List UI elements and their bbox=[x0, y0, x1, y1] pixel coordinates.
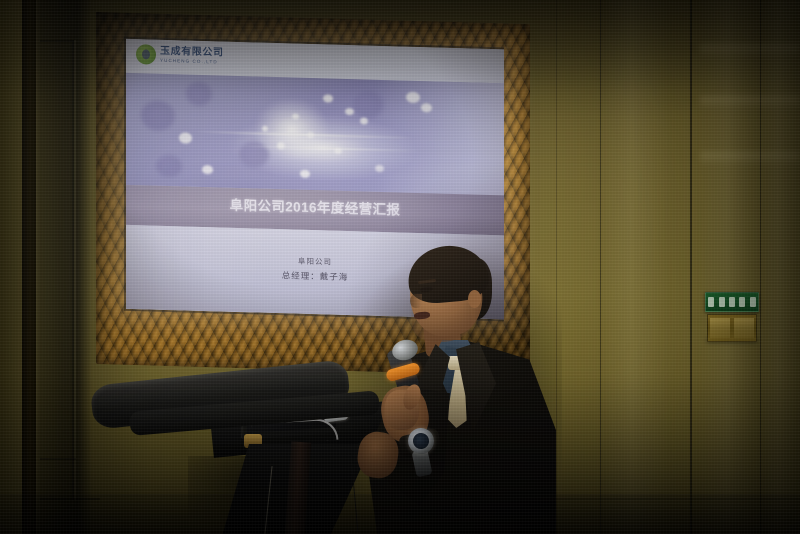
wall-reflection-streak bbox=[700, 152, 800, 166]
slide-artwork-molecular-cluster bbox=[126, 73, 504, 196]
green-emergency-exit-sign bbox=[705, 292, 759, 312]
artwork-light-blob bbox=[345, 108, 354, 115]
artwork-light-blob bbox=[179, 133, 192, 144]
wall-panel-seam bbox=[760, 0, 761, 534]
wall-left-edge bbox=[0, 0, 22, 534]
wall-recess-slot bbox=[22, 0, 36, 534]
wall-panel-seam bbox=[690, 0, 692, 534]
conference-room-photo: 玉成有限公司 YUCHENG CO.,LTD bbox=[0, 0, 800, 534]
artwork-dark-blob bbox=[141, 100, 175, 131]
company-name-cn: 玉成有限公司 bbox=[160, 47, 224, 59]
sign-character bbox=[719, 297, 725, 307]
slide-company-logo: 玉成有限公司 YUCHENG CO.,LTD bbox=[136, 44, 224, 66]
sign-character bbox=[750, 297, 756, 307]
artwork-light-blob bbox=[360, 117, 368, 124]
sign-character bbox=[739, 297, 745, 307]
sign-character bbox=[729, 297, 735, 307]
artwork-light-blob bbox=[300, 170, 310, 178]
artwork-dark-blob bbox=[353, 90, 383, 119]
artwork-light-blob bbox=[406, 92, 420, 103]
wall-panel-highlight bbox=[74, 40, 76, 500]
artwork-dark-blob bbox=[186, 81, 212, 106]
presenter-ear bbox=[468, 290, 481, 308]
wall-panel-seam bbox=[600, 0, 601, 534]
artwork-light-blob bbox=[202, 165, 213, 174]
artwork-dark-blob bbox=[156, 154, 182, 177]
plaque-segment bbox=[710, 318, 730, 338]
artwork-light-blob bbox=[323, 94, 333, 102]
wall-signage-group bbox=[705, 292, 761, 354]
wall-reflection-streak bbox=[700, 44, 800, 58]
slide-logo-text: 玉成有限公司 YUCHENG CO.,LTD bbox=[160, 47, 224, 65]
gold-wall-plaque bbox=[707, 314, 757, 342]
wall-recess-edge-highlight bbox=[36, 0, 40, 534]
company-name-en: YUCHENG CO.,LTD bbox=[160, 58, 224, 64]
company-leaf-logo-icon bbox=[136, 44, 156, 65]
sign-character bbox=[708, 297, 714, 307]
wall-panel-moulding bbox=[40, 40, 74, 42]
plaque-segment bbox=[734, 318, 754, 338]
wall-panel-moulding bbox=[40, 458, 76, 460]
presenter-nose bbox=[410, 294, 422, 308]
presenter bbox=[352, 236, 557, 534]
wall-reflection-streak bbox=[700, 96, 800, 110]
